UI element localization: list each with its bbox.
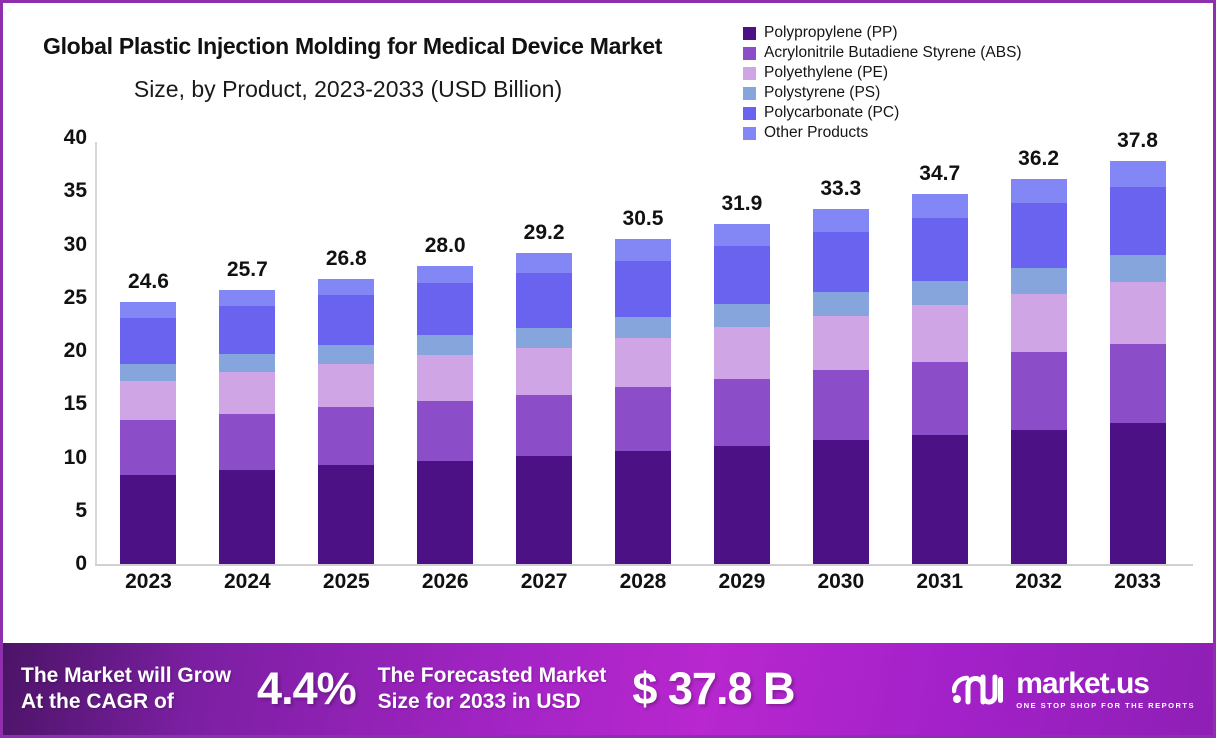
chart-title: Global Plastic Injection Molding for Med… [43, 33, 733, 60]
bar-column[interactable]: 25.7 [198, 138, 297, 564]
forecast-value: $ 37.8 B [632, 663, 794, 715]
forecast-caption-line1: The Forecasted Market [378, 664, 607, 687]
bar-segment[interactable] [615, 451, 671, 564]
cagr-value: 4.4% [257, 663, 356, 715]
bar-segment[interactable] [219, 470, 275, 564]
bar-segment[interactable] [318, 279, 374, 295]
bar-segment[interactable] [516, 456, 572, 564]
stacked-bar[interactable]: 25.7 [219, 290, 275, 564]
brand-text: market.us ONE STOP SHOP FOR THE REPORTS [1016, 669, 1195, 710]
x-axis-tick: 2029 [692, 570, 791, 594]
y-axis-line [95, 142, 97, 564]
legend-label: Polyethylene (PE) [764, 64, 888, 82]
bar-segment[interactable] [417, 461, 473, 564]
bar-segment[interactable] [912, 362, 968, 435]
bar-value-label: 29.2 [524, 221, 565, 245]
legend-item[interactable]: Polycarbonate (PC) [743, 103, 1183, 123]
bar-segment[interactable] [615, 239, 671, 260]
summary-banner: The Market will Grow At the CAGR of 4.4%… [3, 643, 1213, 735]
bar-segment[interactable] [417, 283, 473, 335]
bar-segment[interactable] [516, 253, 572, 273]
bar-column[interactable]: 28.0 [396, 138, 495, 564]
bar-segment[interactable] [219, 414, 275, 470]
bar-segment[interactable] [1110, 187, 1166, 255]
bar-segment[interactable] [615, 261, 671, 317]
bar-column[interactable]: 36.2 [989, 138, 1088, 564]
bar-segment[interactable] [120, 381, 176, 420]
bar-segment[interactable] [714, 246, 770, 305]
legend-item[interactable]: Polyethylene (PE) [743, 63, 1183, 83]
bar-segment[interactable] [417, 266, 473, 283]
legend-label: Polycarbonate (PC) [764, 104, 899, 122]
bar-column[interactable]: 34.7 [890, 138, 989, 564]
bar-value-label: 25.7 [227, 258, 268, 282]
bar-segment[interactable] [120, 475, 176, 564]
bar-segment[interactable] [615, 317, 671, 338]
bar-segment[interactable] [912, 218, 968, 281]
bar-value-label: 36.2 [1018, 147, 1059, 171]
bar-segment[interactable] [120, 420, 176, 474]
legend-item[interactable]: Polypropylene (PP) [743, 23, 1183, 43]
bar-segment[interactable] [912, 435, 968, 564]
brand-tagline: ONE STOP SHOP FOR THE REPORTS [1016, 702, 1195, 710]
bar-series-container: 24.625.726.828.029.230.531.933.334.736.2… [99, 138, 1187, 564]
brand-name: market.us [1016, 669, 1195, 699]
legend-item[interactable]: Polystyrene (PS) [743, 83, 1183, 103]
legend-label: Polystyrene (PS) [764, 84, 880, 102]
bar-column[interactable]: 29.2 [495, 138, 594, 564]
bar-column[interactable]: 26.8 [297, 138, 396, 564]
chart-titles: Global Plastic Injection Molding for Med… [43, 33, 733, 103]
bar-segment[interactable] [1011, 430, 1067, 564]
bar-segment[interactable] [813, 370, 869, 440]
stacked-bar[interactable]: 34.7 [912, 194, 968, 564]
y-axis-tick: 15 [64, 392, 87, 416]
bar-segment[interactable] [318, 364, 374, 408]
stacked-bar[interactable]: 31.9 [714, 224, 770, 564]
bar-segment[interactable] [813, 232, 869, 293]
bar-segment[interactable] [1110, 344, 1166, 424]
y-axis-tick: 20 [64, 339, 87, 363]
y-axis-tick: 35 [64, 179, 87, 203]
x-axis-tick: 2031 [890, 570, 989, 594]
bar-segment[interactable] [1110, 255, 1166, 282]
x-axis-tick: 2032 [989, 570, 1088, 594]
bar-segment[interactable] [120, 364, 176, 381]
bar-segment[interactable] [219, 354, 275, 372]
y-axis-tick: 40 [64, 126, 87, 150]
x-axis-tick: 2033 [1088, 570, 1187, 594]
bar-segment[interactable] [318, 407, 374, 465]
x-axis: 2023202420252026202720282029203020312032… [99, 570, 1187, 594]
bar-segment[interactable] [615, 387, 671, 451]
infographic-root: Global Plastic Injection Molding for Med… [0, 0, 1216, 738]
x-axis-tick: 2027 [495, 570, 594, 594]
x-axis-tick: 2030 [791, 570, 890, 594]
y-axis-tick: 10 [64, 446, 87, 470]
y-axis-tick: 0 [75, 552, 87, 576]
stacked-bar[interactable]: 24.6 [120, 302, 176, 564]
bar-segment[interactable] [417, 335, 473, 355]
legend-item[interactable]: Acrylonitrile Butadiene Styrene (ABS) [743, 43, 1183, 63]
bar-value-label: 37.8 [1117, 129, 1158, 153]
bar-segment[interactable] [318, 295, 374, 345]
bar-segment[interactable] [318, 345, 374, 364]
cagr-caption-line1: The Market will Grow [21, 664, 231, 687]
bar-segment[interactable] [120, 302, 176, 318]
bar-column[interactable]: 30.5 [594, 138, 693, 564]
stacked-bar[interactable]: 33.3 [813, 209, 869, 564]
legend-swatch-icon [743, 87, 756, 100]
bar-segment[interactable] [714, 379, 770, 446]
stacked-bar[interactable]: 37.8 [1110, 161, 1166, 564]
bar-segment[interactable] [219, 372, 275, 414]
bar-column[interactable]: 24.6 [99, 138, 198, 564]
bar-column[interactable]: 31.9 [692, 138, 791, 564]
bar-segment[interactable] [912, 305, 968, 361]
bar-segment[interactable] [714, 446, 770, 564]
bar-segment[interactable] [813, 292, 869, 315]
bar-value-label: 28.0 [425, 234, 466, 258]
x-axis-tick: 2024 [198, 570, 297, 594]
bar-segment[interactable] [1110, 423, 1166, 564]
bar-segment[interactable] [318, 465, 374, 564]
bar-segment[interactable] [516, 395, 572, 457]
y-axis-tick: 5 [75, 499, 87, 523]
bar-segment[interactable] [714, 304, 770, 326]
bar-segment[interactable] [813, 316, 869, 370]
brand-logo: market.us ONE STOP SHOP FOR THE REPORTS [952, 669, 1195, 710]
bar-column[interactable]: 37.8 [1088, 138, 1187, 564]
bar-segment[interactable] [516, 348, 572, 395]
y-axis-tick: 30 [64, 233, 87, 257]
y-axis: 0510152025303540 [43, 138, 95, 564]
bar-segment[interactable] [1011, 294, 1067, 353]
bar-segment[interactable] [1110, 161, 1166, 187]
stacked-bar[interactable]: 26.8 [318, 279, 374, 564]
stacked-bar[interactable]: 28.0 [417, 266, 473, 564]
bar-value-label: 34.7 [919, 162, 960, 186]
bar-segment[interactable] [1110, 282, 1166, 344]
bar-segment[interactable] [912, 281, 968, 305]
bar-segment[interactable] [1011, 352, 1067, 430]
chart-area: Global Plastic Injection Molding for Med… [3, 3, 1213, 643]
bar-segment[interactable] [714, 224, 770, 245]
bar-segment[interactable] [1011, 203, 1067, 268]
bar-segment[interactable] [120, 318, 176, 364]
legend-swatch-icon [743, 107, 756, 120]
x-axis-tick: 2023 [99, 570, 198, 594]
bar-segment[interactable] [813, 209, 869, 231]
bar-segment[interactable] [417, 401, 473, 461]
stacked-bar[interactable]: 36.2 [1011, 179, 1067, 564]
bar-segment[interactable] [417, 355, 473, 401]
stacked-bar[interactable]: 29.2 [516, 253, 572, 564]
cagr-caption: The Market will Grow At the CAGR of [21, 663, 231, 714]
bar-column[interactable]: 33.3 [791, 138, 890, 564]
legend-swatch-icon [743, 27, 756, 40]
chart-subtitle: Size, by Product, 2023-2033 (USD Billion… [43, 76, 733, 103]
x-axis-tick: 2026 [396, 570, 495, 594]
plot-region: 0510152025303540 24.625.726.828.029.230.… [43, 138, 1193, 633]
bar-value-label: 26.8 [326, 247, 367, 271]
bar-segment[interactable] [516, 328, 572, 348]
bar-segment[interactable] [912, 194, 968, 217]
bar-value-label: 33.3 [820, 177, 861, 201]
legend-swatch-icon [743, 47, 756, 60]
bar-segment[interactable] [1011, 268, 1067, 294]
bar-segment[interactable] [615, 338, 671, 387]
bar-value-label: 31.9 [721, 192, 762, 216]
legend-label: Acrylonitrile Butadiene Styrene (ABS) [764, 44, 1022, 62]
cagr-caption-line2: At the CAGR of [21, 690, 174, 713]
bar-segment[interactable] [219, 306, 275, 354]
bar-value-label: 24.6 [128, 270, 169, 294]
market-us-logo-icon [952, 669, 1006, 709]
forecast-caption: The Forecasted Market Size for 2033 in U… [378, 663, 607, 714]
legend-label: Polypropylene (PP) [764, 24, 898, 42]
stacked-bar[interactable]: 30.5 [615, 239, 671, 564]
forecast-caption-line2: Size for 2033 in USD [378, 690, 581, 713]
y-axis-tick: 25 [64, 286, 87, 310]
x-axis-tick: 2028 [594, 570, 693, 594]
bar-value-label: 30.5 [623, 207, 664, 231]
legend-swatch-icon [743, 67, 756, 80]
bar-segment[interactable] [714, 327, 770, 379]
bar-segment[interactable] [516, 273, 572, 327]
bar-segment[interactable] [1011, 179, 1067, 203]
chart-legend: Polypropylene (PP)Acrylonitrile Butadien… [743, 23, 1183, 143]
bar-segment[interactable] [219, 290, 275, 306]
x-axis-tick: 2025 [297, 570, 396, 594]
bar-segment[interactable] [813, 440, 869, 564]
x-axis-line [95, 564, 1193, 566]
